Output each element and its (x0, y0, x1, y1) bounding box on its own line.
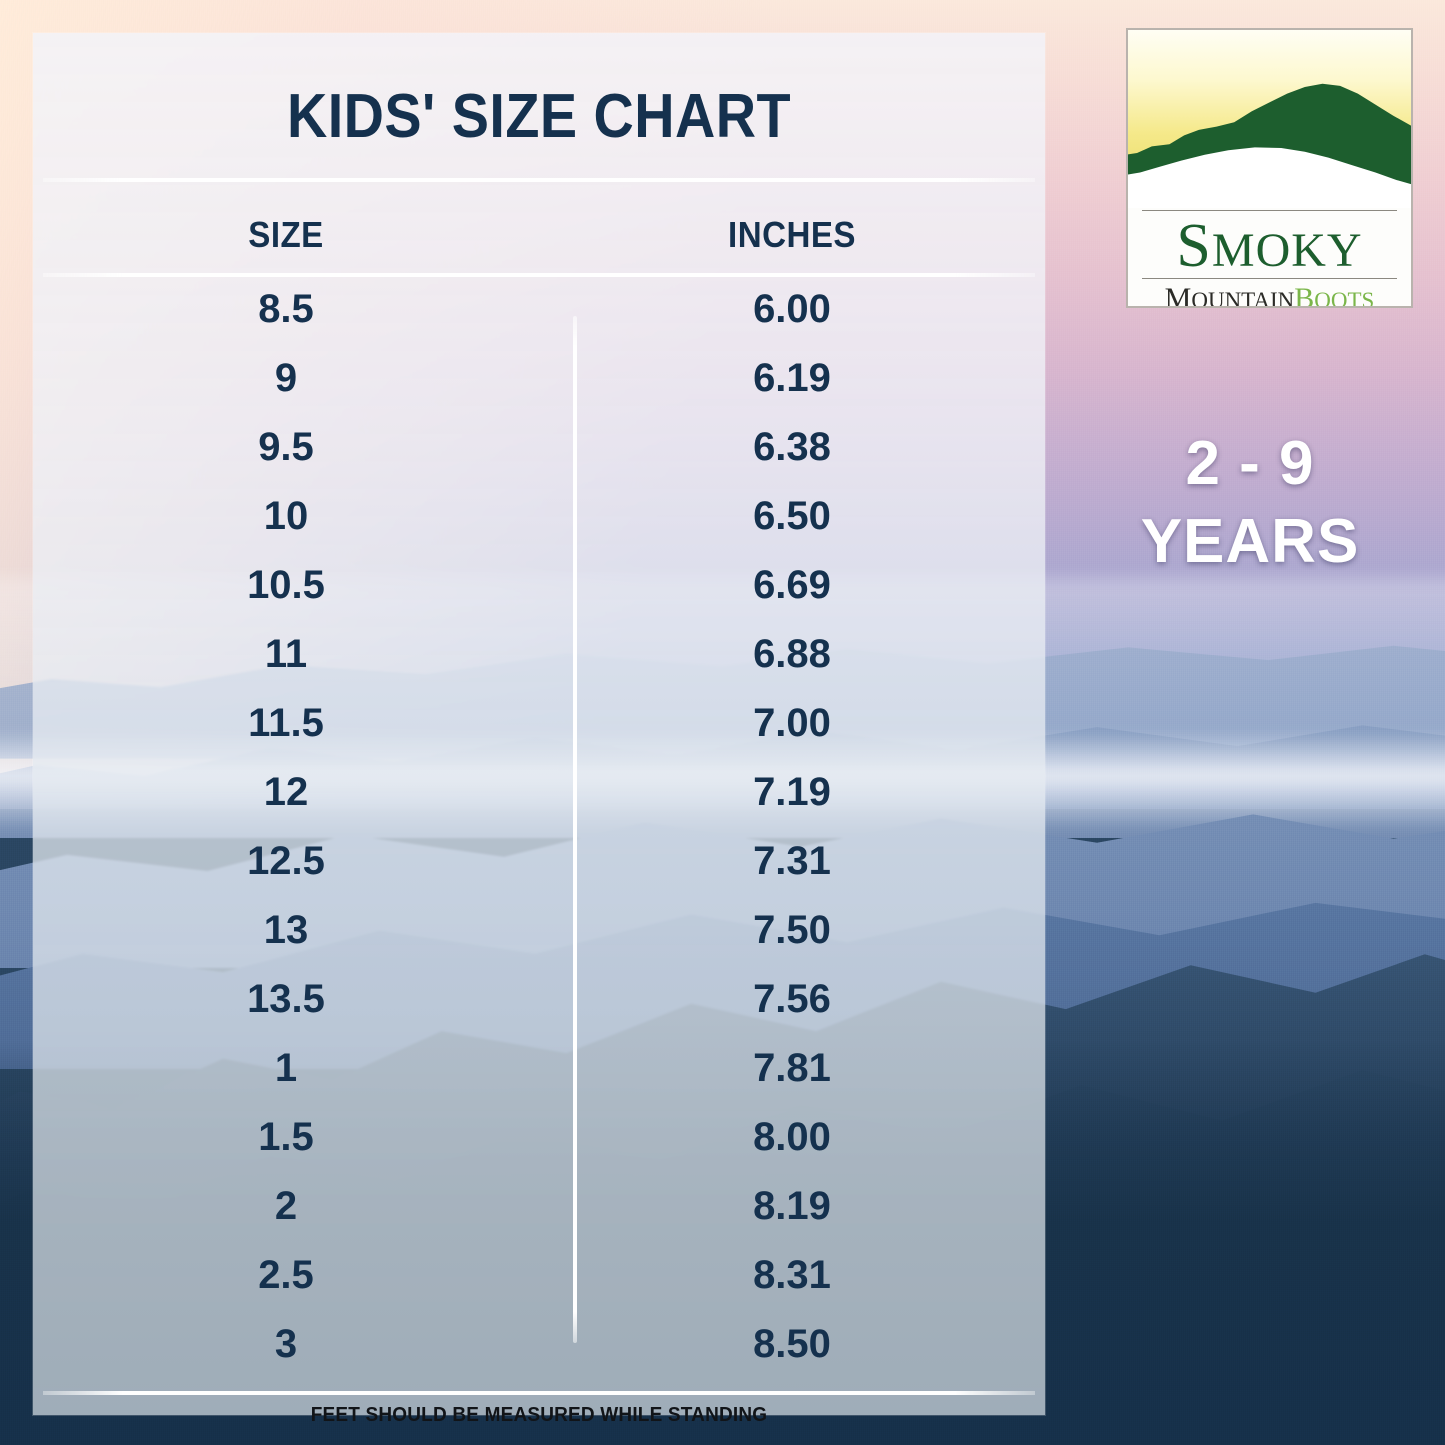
cell-size: 11.5 (33, 701, 539, 746)
cell-inches: 7.50 (539, 908, 1045, 953)
table-row: 127.19 (33, 758, 1045, 827)
cell-inches: 6.00 (539, 287, 1045, 332)
table-row: 28.19 (33, 1172, 1045, 1241)
cell-inches: 8.19 (539, 1184, 1045, 1229)
cell-size: 10.5 (33, 563, 539, 608)
size-chart-panel: KIDS' SIZE CHART SIZE INCHES 8.56.0096.1… (33, 33, 1045, 1415)
cell-inches: 8.00 (539, 1115, 1045, 1160)
cell-size: 11 (33, 632, 539, 677)
logo-mountain-rest: OUNTAIN (1191, 288, 1294, 308)
page-title: KIDS' SIZE CHART (84, 81, 995, 152)
cell-inches: 7.56 (539, 977, 1045, 1022)
cell-inches: 8.50 (539, 1322, 1045, 1367)
table-row: 137.50 (33, 896, 1045, 965)
table-row: 1.58.00 (33, 1103, 1045, 1172)
cell-inches: 6.50 (539, 494, 1045, 539)
logo-smoky-rest: MOKY (1212, 224, 1363, 277)
cell-inches: 7.00 (539, 701, 1045, 746)
age-range-value: 2 - 9 (1060, 425, 1440, 503)
logo-wordmark-smoky: SMOKY (1128, 216, 1411, 281)
table-row: 106.50 (33, 482, 1045, 551)
table-row: 12.57.31 (33, 827, 1045, 896)
divider-under-title (43, 178, 1035, 182)
cell-size: 9 (33, 356, 539, 401)
cell-inches: 6.88 (539, 632, 1045, 677)
cell-size: 1.5 (33, 1115, 539, 1160)
column-header-size: SIZE (53, 201, 519, 269)
cell-size: 1 (33, 1046, 539, 1091)
table-row: 116.88 (33, 620, 1045, 689)
logo-boots-rest: OOTS (1314, 288, 1374, 308)
cell-inches: 8.31 (539, 1253, 1045, 1298)
cell-inches: 6.38 (539, 425, 1045, 470)
footnote-text: FEET SHOULD BE MEASURED WHILE STANDING (58, 1404, 1019, 1427)
cell-inches: 7.81 (539, 1046, 1045, 1091)
table-column-headers: SIZE INCHES (33, 201, 1045, 269)
table-row: 9.56.38 (33, 413, 1045, 482)
table-row: 17.81 (33, 1034, 1045, 1103)
cell-size: 3 (33, 1322, 539, 1367)
table-row: 2.58.31 (33, 1241, 1045, 1310)
cell-size: 12.5 (33, 839, 539, 884)
cell-inches: 7.31 (539, 839, 1045, 884)
size-table-body: 8.56.0096.199.56.38106.5010.56.69116.881… (33, 273, 1045, 1391)
age-range-callout: 2 - 9 YEARS (1060, 425, 1440, 581)
table-row: 10.56.69 (33, 551, 1045, 620)
cell-inches: 6.19 (539, 356, 1045, 401)
cell-size: 2 (33, 1184, 539, 1229)
smoky-mountain-boots-logo: SMOKY MOUNTAINBOOTS (1126, 28, 1413, 308)
cell-inches: 7.19 (539, 770, 1045, 815)
table-row: 11.57.00 (33, 689, 1045, 758)
table-row: 96.19 (33, 344, 1045, 413)
logo-mountain-initial: M (1165, 282, 1192, 308)
logo-divider-top (1142, 210, 1397, 211)
cell-size: 13.5 (33, 977, 539, 1022)
divider-above-footnote (43, 1391, 1035, 1395)
logo-smoky-initial: S (1176, 212, 1211, 280)
table-row: 8.56.00 (33, 275, 1045, 344)
cell-size: 12 (33, 770, 539, 815)
logo-wordmark-mountain-boots: MOUNTAINBOOTS (1128, 284, 1411, 308)
cell-inches: 6.69 (539, 563, 1045, 608)
age-range-unit: YEARS (1060, 503, 1440, 581)
cell-size: 13 (33, 908, 539, 953)
logo-boots-initial: B (1294, 282, 1314, 308)
table-row: 13.57.56 (33, 965, 1045, 1034)
cell-size: 8.5 (33, 287, 539, 332)
cell-size: 10 (33, 494, 539, 539)
table-row: 38.50 (33, 1310, 1045, 1379)
logo-divider-bottom (1142, 278, 1397, 279)
logo-mountain-artwork (1128, 30, 1411, 208)
cell-size: 9.5 (33, 425, 539, 470)
cell-size: 2.5 (33, 1253, 539, 1298)
column-header-inches: INCHES (559, 201, 1025, 269)
